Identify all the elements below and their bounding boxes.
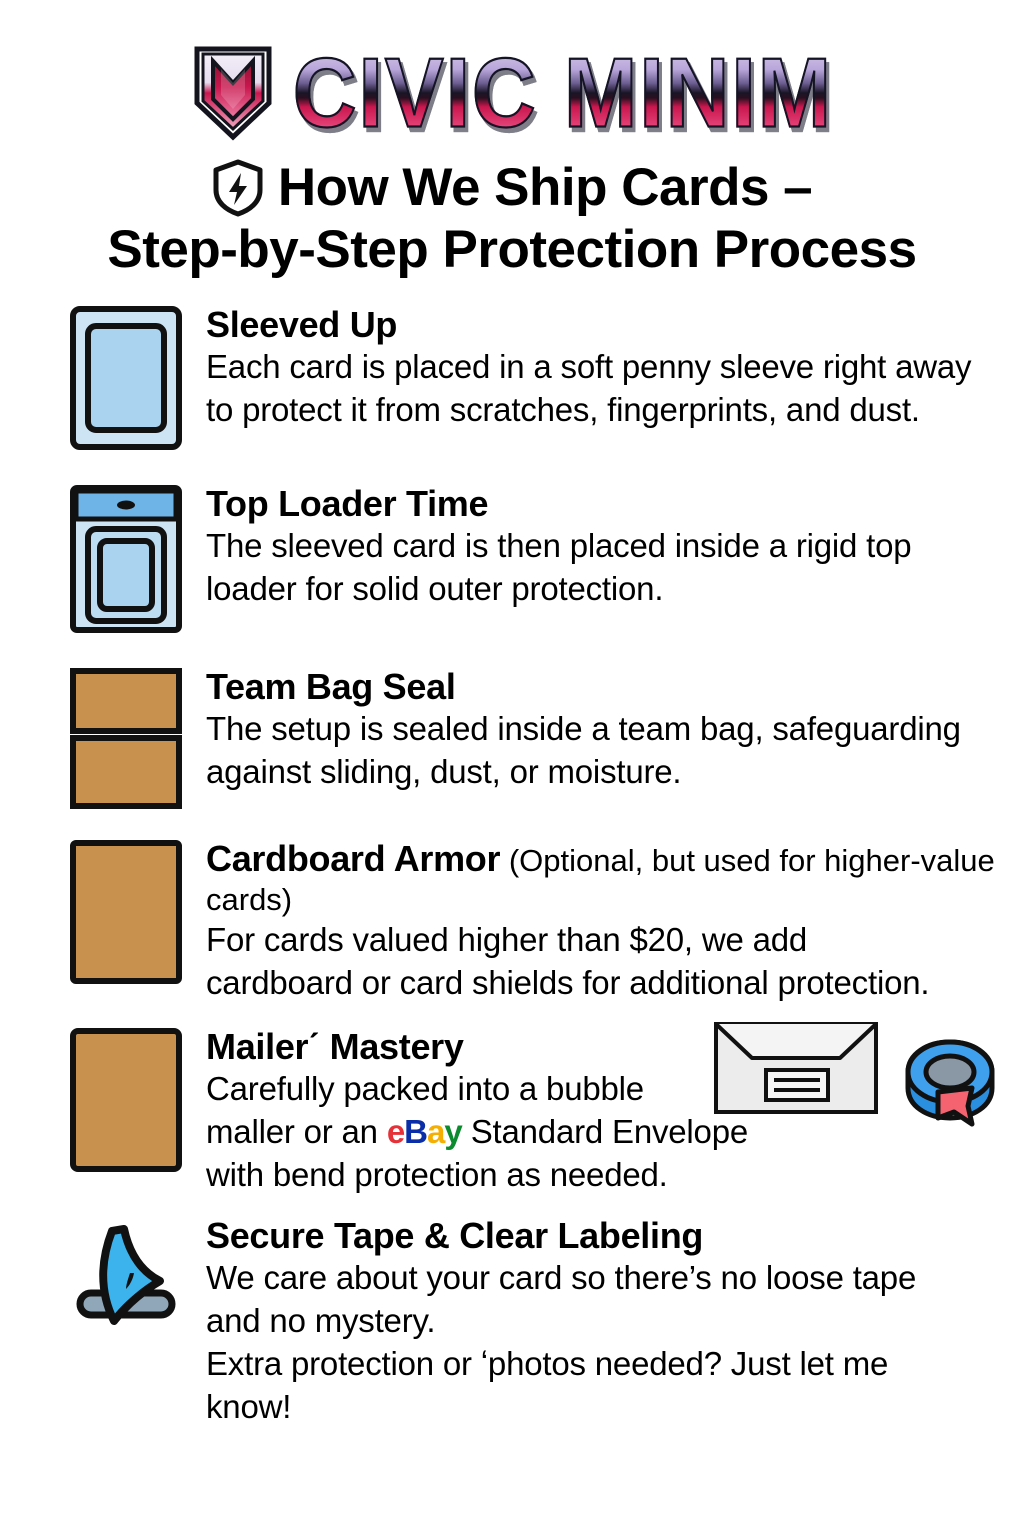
tape-peel-icon	[68, 1215, 184, 1340]
step-desc-line: with bend protection as needed.	[206, 1154, 1004, 1196]
step-team-bag-seal: Team Bag Seal The setup is sealed inside…	[0, 666, 1024, 816]
step-secure-tape-clear-labeling: Secure Tape & Clear Labeling We care abo…	[0, 1215, 1024, 1429]
step-top-loader-time: Top Loader Time The sleeved card is then…	[0, 483, 1024, 640]
step-desc-line: against sliding, dust, or moisture.	[206, 751, 1004, 793]
civic-minim-chevron-m-emblem	[191, 45, 275, 141]
step-desc-line: For cards valued higher than $20, we add	[206, 919, 1004, 961]
step-desc-line: and no mystery.	[206, 1300, 1004, 1342]
step-desc-line: The sleeved card is then placed inside a…	[206, 525, 1004, 567]
step-desc-line: loader for solid outer protection.	[206, 568, 1004, 610]
infographic-page: CIVIC MINIM How We Ship Cards – Step-by-…	[0, 0, 1024, 1536]
brand-header: CIVIC MINIM	[0, 0, 1024, 152]
envelope-icon	[712, 1020, 880, 1116]
step-title: Top Loader Time	[206, 485, 1004, 524]
steps-list: Sleeved Up Each card is placed in a soft…	[0, 304, 1024, 1429]
penny-sleeve-icon	[68, 304, 184, 457]
page-title-line2: Step-by-Step Protection Process	[30, 219, 994, 282]
step-mailer-mastery: Mailerˊ Mastery Carefully packed into a …	[0, 1026, 1024, 1197]
shield-bolt-icon	[212, 159, 264, 217]
team-bag-icon	[68, 666, 184, 816]
page-title-line1: How We Ship Cards –	[278, 158, 812, 217]
step-title-text: Cardboard Armor	[206, 838, 500, 879]
step-desc-line: Extra protection or ʻphotos needed? Just…	[206, 1343, 1004, 1385]
top-loader-icon	[68, 483, 184, 640]
cardboard-armor-icon	[68, 838, 184, 991]
step-title: Cardboard Armor (Optional, but used for …	[206, 840, 1004, 918]
step-desc-line: to protect it from scratches, fingerprin…	[206, 389, 1004, 431]
mailer-art-group	[712, 1020, 1002, 1130]
step-title: Sleeved Up	[206, 306, 1004, 345]
step-desc-line: Carefully packed into a bubble	[206, 1068, 676, 1110]
step-desc-line: The setup is sealed inside a team bag, s…	[206, 708, 1004, 750]
bubble-mailer-icon	[68, 1026, 184, 1179]
step-title: Team Bag Seal	[206, 668, 1004, 707]
step-desc-line: Each card is placed in a soft penny slee…	[206, 346, 1004, 388]
ebay-logo-text: eBay	[387, 1113, 462, 1150]
brand-wordmark: CIVIC MINIM	[293, 44, 833, 143]
step-desc-line: know!	[206, 1386, 1004, 1428]
step-cardboard-armor: Cardboard Armor (Optional, but used for …	[0, 838, 1024, 1004]
step-sleeved-up: Sleeved Up Each card is placed in a soft…	[0, 304, 1024, 457]
step-desc-line: We care about your card so there’s no lo…	[206, 1257, 1004, 1299]
page-title: How We Ship Cards – Step-by-Step Protect…	[0, 152, 1024, 282]
step-desc-line: cardboard or card shields for additional…	[206, 962, 1004, 1004]
tape-roll-icon	[898, 1026, 1002, 1130]
step-title: Secure Tape & Clear Labeling	[206, 1217, 1004, 1256]
